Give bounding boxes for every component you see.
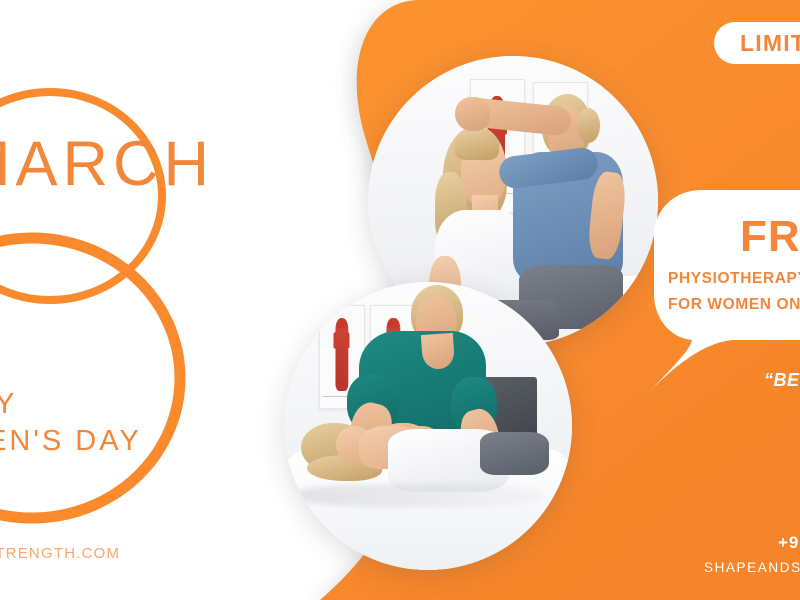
greeting-line-1: HAPPY [0,388,17,421]
limited-offer-badge[interactable]: LIMITED OFFER [714,22,800,64]
bubble-headline: FREE [740,212,800,262]
website-left[interactable]: SHAPEANDSTRENGTH.COM [0,545,120,562]
bubble-line-1: PHYSIOTHERAPY SESSION [668,270,800,288]
limited-offer-label: LIMITED OFFER [740,30,800,57]
quote-text: “BE STRONG” [764,370,800,391]
photo-therapist-back-massage [284,282,572,570]
bubble-line-2: FOR WOMEN ONLY [668,296,800,314]
website-right[interactable]: SHAPEANDSTRENGTH.COM [704,560,800,575]
greeting-line-2: WOMEN'S DAY [0,425,142,458]
march-label: MARCH [0,128,214,200]
phone-number[interactable]: +9 123 456 7890 [778,533,800,553]
poster-canvas: MARCH HAPPY WOMEN'S DAY SHAPEANDSTRENGTH… [0,0,800,600]
